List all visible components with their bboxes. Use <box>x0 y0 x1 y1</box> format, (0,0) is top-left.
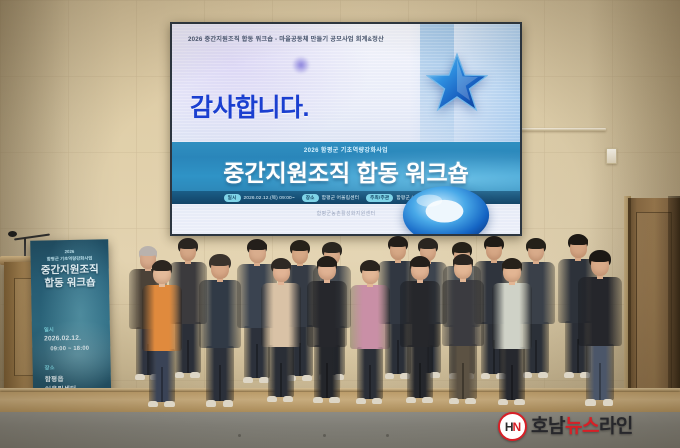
meta-label-date: 일시 <box>224 194 241 202</box>
banner-title: 중간지원조직 합동 워크숍 <box>31 263 109 290</box>
hn-badge-icon: HN <box>498 412 527 441</box>
person-shoe <box>243 377 253 383</box>
person-shoe <box>481 373 491 379</box>
person-leg-gap <box>280 363 282 397</box>
person-hair-front <box>527 240 545 249</box>
person-hair-front <box>152 262 171 271</box>
meta-label-host: 주최/주관 <box>366 194 393 202</box>
person-shoe <box>514 399 524 405</box>
person-leg-gap <box>219 365 221 401</box>
person-hair-front <box>590 252 610 262</box>
person-leg-gap <box>256 344 258 378</box>
person-shoe <box>329 397 339 403</box>
person-shoe <box>406 397 416 403</box>
person-shoe <box>564 372 574 378</box>
door-panel <box>636 212 672 404</box>
person-shoe <box>223 400 234 406</box>
banner-time-value: 09:00 ~ 18:00 <box>50 346 89 353</box>
person-hair-front <box>502 260 521 269</box>
person-hair-front <box>361 262 380 271</box>
banner-shine <box>30 319 112 391</box>
slide-footnote: 함평군농촌활성화지원센터 <box>172 210 520 217</box>
person-torso <box>400 281 441 346</box>
watermark-text: 호남뉴스라인 <box>531 417 633 436</box>
person-torso <box>261 283 301 347</box>
person-shoe <box>356 398 366 404</box>
meta-value-place: 함평군 어울림센터 <box>322 194 360 201</box>
banner-date-label: 일시 <box>44 326 54 333</box>
meta-label-place: 장소 <box>302 194 319 202</box>
watermark-word-2: 뉴스 <box>565 416 599 437</box>
microphone-head <box>8 231 17 237</box>
slide-banner-subtitle: 2026 함평군 기초역량강화사업 <box>172 145 520 154</box>
person-torso <box>350 285 390 349</box>
person-shoe <box>603 399 614 405</box>
person-shoe <box>422 397 432 403</box>
person-hair-front <box>139 248 157 256</box>
slide-thanks-text: 감사합니다. <box>190 88 309 124</box>
person-shoe <box>538 372 548 378</box>
person-leg-gap <box>369 365 371 399</box>
banner-subtitle-year: 2026 <box>64 249 74 254</box>
person-shoe <box>283 396 293 402</box>
person-torso <box>199 280 241 348</box>
person-shoe <box>465 398 475 404</box>
person-shoe <box>313 397 323 403</box>
person-hair-front <box>248 241 267 250</box>
banner-title-line1: 중간지원조직 <box>41 263 99 276</box>
person-torso <box>307 281 348 346</box>
person-leg-gap <box>299 343 301 376</box>
banner-date-value: 2026.02.12. <box>44 335 81 343</box>
person-shoe <box>164 401 174 407</box>
badge-letter-n: N <box>513 421 521 433</box>
person-leg-gap <box>599 363 601 400</box>
person-hair-front <box>453 244 471 253</box>
floor-marker <box>386 434 389 437</box>
badge-letter-h: H <box>505 421 513 433</box>
person-shoe <box>206 400 217 406</box>
person-torso <box>578 277 621 346</box>
person-shoe <box>585 399 596 405</box>
person-leg-gap <box>161 367 163 402</box>
person-hair-front <box>210 256 230 266</box>
person-shoe <box>449 398 459 404</box>
blue-torus-icon <box>400 184 492 234</box>
watermark-word-1: 호남 <box>531 416 565 437</box>
person-leg-gap <box>535 340 537 373</box>
person-torso <box>442 280 484 347</box>
watermark-word-3: 라인 <box>599 416 633 437</box>
person-shoe <box>135 374 144 380</box>
person-leg-gap <box>187 340 189 373</box>
wall-rail <box>520 128 606 131</box>
person-hair-front <box>317 258 336 267</box>
person-shoe <box>385 373 395 379</box>
floor-marker <box>323 434 326 437</box>
person-torso <box>142 285 183 350</box>
banner-title-line2: 합동 워크숍 <box>44 276 95 289</box>
slide-banner-title: 중간지원조직 합동 워크숍 <box>172 154 520 188</box>
conference-group-photo: 2026 중간지원조직 합동 워크숍 - 마을공동체 만들기 공모사업 회계&정… <box>0 0 680 448</box>
person-hair-front <box>272 260 291 269</box>
person-leg-gap <box>419 363 421 398</box>
person-shoe <box>148 401 158 407</box>
watermark-logo: HN 호남뉴스라인 <box>498 412 633 441</box>
person-hair-front <box>291 242 310 251</box>
banner-place-line1: 함평읍 <box>45 373 64 383</box>
person-shoe <box>190 372 200 378</box>
banner-subtitle-program: 함평군 기초역량강화사업 <box>47 255 93 261</box>
person-torso <box>492 283 533 348</box>
person-leg-gap <box>462 363 464 398</box>
person-hair-front <box>389 238 408 247</box>
meta-value-date: 2026.02.12.(목) 09:00~ <box>244 194 295 201</box>
person-leg-gap <box>511 365 513 400</box>
person-shoe <box>372 398 382 404</box>
banner-subtitle: 2026 함평군 기초역량강화사업 <box>30 248 108 263</box>
floor-marker <box>238 434 241 437</box>
person-hair-front <box>410 258 429 267</box>
person-hair-front <box>485 238 504 247</box>
projection-screen-frame: 2026 중간지원조직 합동 워크숍 - 마을공동체 만들기 공모사업 회계&정… <box>170 22 522 236</box>
projector-blur-spot <box>292 56 310 74</box>
person-hair-front <box>179 240 197 249</box>
person-shoe <box>302 375 312 381</box>
slide-meta-place: 장소 함평군 어울림센터 <box>302 194 359 202</box>
person-shoe <box>498 399 508 405</box>
banner-place-label: 장소 <box>45 364 55 371</box>
person-leg-gap <box>326 363 328 398</box>
blue-star-icon <box>426 52 488 112</box>
person-shoe <box>267 396 277 402</box>
light-switch <box>606 148 617 164</box>
projection-screen: 2026 중간지원조직 합동 워크숍 - 마을공동체 만들기 공모사업 회계&정… <box>172 24 520 234</box>
slide-header-text: 2026 중간지원조직 합동 워크숍 - 마을공동체 만들기 공모사업 회계&정… <box>188 34 488 43</box>
person-hair-front <box>569 236 588 245</box>
person-hair-front <box>419 240 437 249</box>
person-shoe <box>175 372 185 378</box>
slide-meta-date: 일시 2026.02.12.(목) 09:00~ <box>224 194 295 202</box>
person-hair-front <box>453 256 473 265</box>
person-hair-front <box>323 244 341 253</box>
person-leg-gap <box>397 340 399 374</box>
